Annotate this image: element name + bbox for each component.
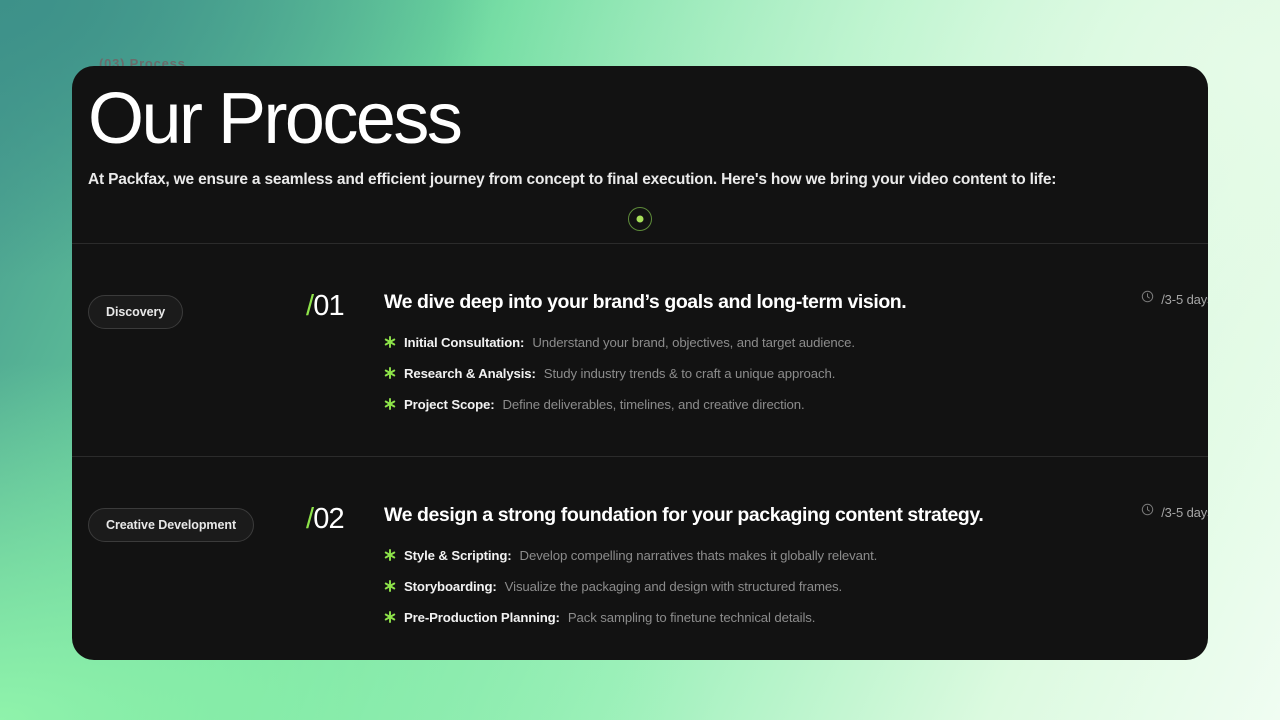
clock-icon xyxy=(1141,290,1154,308)
pulse-dot-icon xyxy=(637,216,644,223)
asterisk-icon xyxy=(384,611,396,623)
step-duration-text: /3-5 days. xyxy=(1161,292,1208,307)
step-duration: /3-5 days. xyxy=(1141,503,1208,521)
step-category-badge[interactable]: Creative Development xyxy=(88,508,254,542)
list-item: Initial Consultation: Understand your br… xyxy=(384,335,1188,350)
asterisk-icon xyxy=(384,367,396,379)
step-body: We design a strong foundation for your p… xyxy=(384,503,1208,625)
process-card: Our Process At Packfax, we ensure a seam… xyxy=(72,66,1208,660)
step-badge-column: Discovery xyxy=(72,290,306,329)
clock-icon xyxy=(1141,503,1154,521)
step-number: /02 xyxy=(306,503,384,536)
page-title: Our Process xyxy=(88,84,1208,155)
asterisk-icon xyxy=(384,549,396,561)
step-number-column: /02 xyxy=(306,503,384,536)
bullet-term: Research & Analysis: xyxy=(404,366,536,381)
process-step-row[interactable]: Creative Development /02 We design a str… xyxy=(72,457,1208,660)
step-badge-column: Creative Development xyxy=(72,503,306,542)
asterisk-icon xyxy=(384,336,396,348)
bullet-term: Initial Consultation: xyxy=(404,335,524,350)
step-bullet-list: Style & Scripting: Develop compelling na… xyxy=(384,548,1188,625)
step-body: We dive deep into your brand’s goals and… xyxy=(384,290,1208,412)
bullet-term: Style & Scripting: xyxy=(404,548,512,563)
step-number: /01 xyxy=(306,290,384,323)
list-item: Style & Scripting: Develop compelling na… xyxy=(384,548,1188,563)
step-duration-text: /3-5 days. xyxy=(1161,505,1208,520)
asterisk-icon xyxy=(384,398,396,410)
bullet-term: Project Scope: xyxy=(404,397,495,412)
list-item: Storyboarding: Visualize the packaging a… xyxy=(384,579,1188,594)
bullet-description: Understand your brand, objectives, and t… xyxy=(532,335,855,350)
pulse-indicator xyxy=(628,207,652,231)
bullet-description: Develop compelling narratives thats make… xyxy=(520,548,878,563)
bullet-description: Pack sampling to finetune technical deta… xyxy=(568,610,816,625)
bullet-description: Study industry trends & to craft a uniqu… xyxy=(544,366,836,381)
list-item: Research & Analysis: Study industry tren… xyxy=(384,366,1188,381)
bullet-term: Storyboarding: xyxy=(404,579,497,594)
step-number-column: /01 xyxy=(306,290,384,323)
bullet-description: Visualize the packaging and design with … xyxy=(505,579,842,594)
step-category-badge[interactable]: Discovery xyxy=(88,295,183,329)
step-duration: /3-5 days. xyxy=(1141,290,1208,308)
step-bullet-list: Initial Consultation: Understand your br… xyxy=(384,335,1188,412)
step-number-value: 02 xyxy=(313,503,344,535)
card-header: Our Process At Packfax, we ensure a seam… xyxy=(72,66,1208,244)
list-item: Project Scope: Define deliverables, time… xyxy=(384,397,1188,412)
process-step-row[interactable]: Discovery /01 We dive deep into your bra… xyxy=(72,244,1208,457)
asterisk-icon xyxy=(384,580,396,592)
step-heading: We design a strong foundation for your p… xyxy=(384,504,1188,527)
step-number-value: 01 xyxy=(313,290,344,322)
list-item: Pre-Production Planning: Pack sampling t… xyxy=(384,610,1188,625)
step-heading: We dive deep into your brand’s goals and… xyxy=(384,291,1188,314)
bullet-term: Pre-Production Planning: xyxy=(404,610,560,625)
page-subtitle: At Packfax, we ensure a seamless and eff… xyxy=(88,171,1208,189)
bullet-description: Define deliverables, timelines, and crea… xyxy=(503,397,805,412)
